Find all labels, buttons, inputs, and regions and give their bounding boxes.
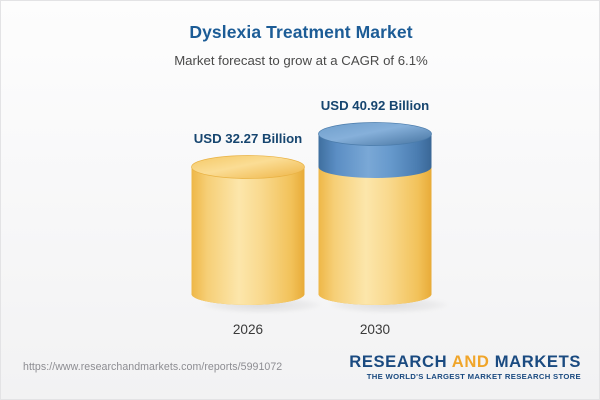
cylinder-2030[interactable]: USD 40.92 Billion	[318, 120, 432, 306]
logo-tagline: THE WORLD'S LARGEST MARKET RESEARCH STOR…	[349, 372, 581, 381]
logo-word-and: AND	[452, 352, 490, 371]
logo-word-markets: MARKETS	[490, 352, 581, 371]
chart-card: Dyslexia Treatment Market Market forecas…	[0, 0, 600, 400]
logo-wordmark: RESEARCH AND MARKETS	[349, 352, 581, 371]
axis-label-2030: 2030	[318, 322, 432, 337]
research-and-markets-logo[interactable]: RESEARCH AND MARKETS THE WORLD'S LARGEST…	[349, 352, 581, 381]
cylinder-svg-2026	[191, 153, 305, 306]
cylinder-svg-2030	[318, 120, 432, 306]
chart-footer: https://www.researchandmarkets.com/repor…	[1, 344, 600, 399]
report-url[interactable]: https://www.researchandmarkets.com/repor…	[23, 361, 282, 373]
data-label-2030: USD 40.92 Billion	[275, 98, 475, 113]
plot-area: USD 32.27 Billion	[1, 1, 600, 346]
logo-word-research: RESEARCH	[349, 352, 452, 371]
axis-label-2026: 2026	[191, 322, 305, 337]
cylinder-2026[interactable]: USD 32.27 Billion	[191, 153, 305, 306]
